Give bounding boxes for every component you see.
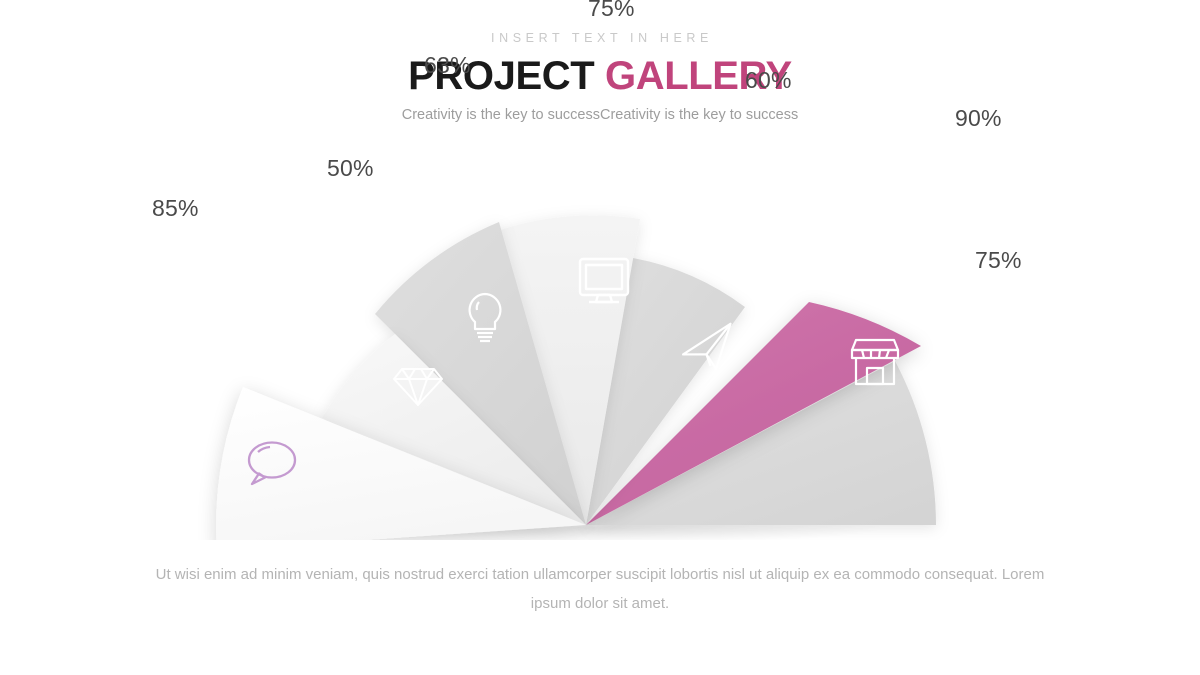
pct-label-75-right: 75% [975,247,1022,274]
subtitle-text: Creativity is the key to successCreativi… [0,105,1200,125]
footer-paragraph: Ut wisi enim ad minim veniam, quis nostr… [150,560,1050,618]
pct-label-50: 50% [327,155,374,182]
title-accent-part [594,54,605,98]
slide-canvas: INSERT TEXT IN HERE PROJECT GALLERY Crea… [0,0,1200,675]
fan-chart: 85% 50% 63% 75% 60% 90% 75% [0,140,1200,540]
pct-label-85-left: 85% [152,195,199,222]
pct-label-75-top: 75% [588,0,635,22]
pct-label-63: 63% [424,52,471,79]
header: INSERT TEXT IN HERE PROJECT GALLERY Crea… [0,30,1200,125]
page-title: PROJECT GALLERY [0,53,1200,99]
eyebrow-text: INSERT TEXT IN HERE [0,30,1200,46]
pct-label-60: 60% [745,67,792,94]
pct-label-90: 90% [955,105,1002,132]
